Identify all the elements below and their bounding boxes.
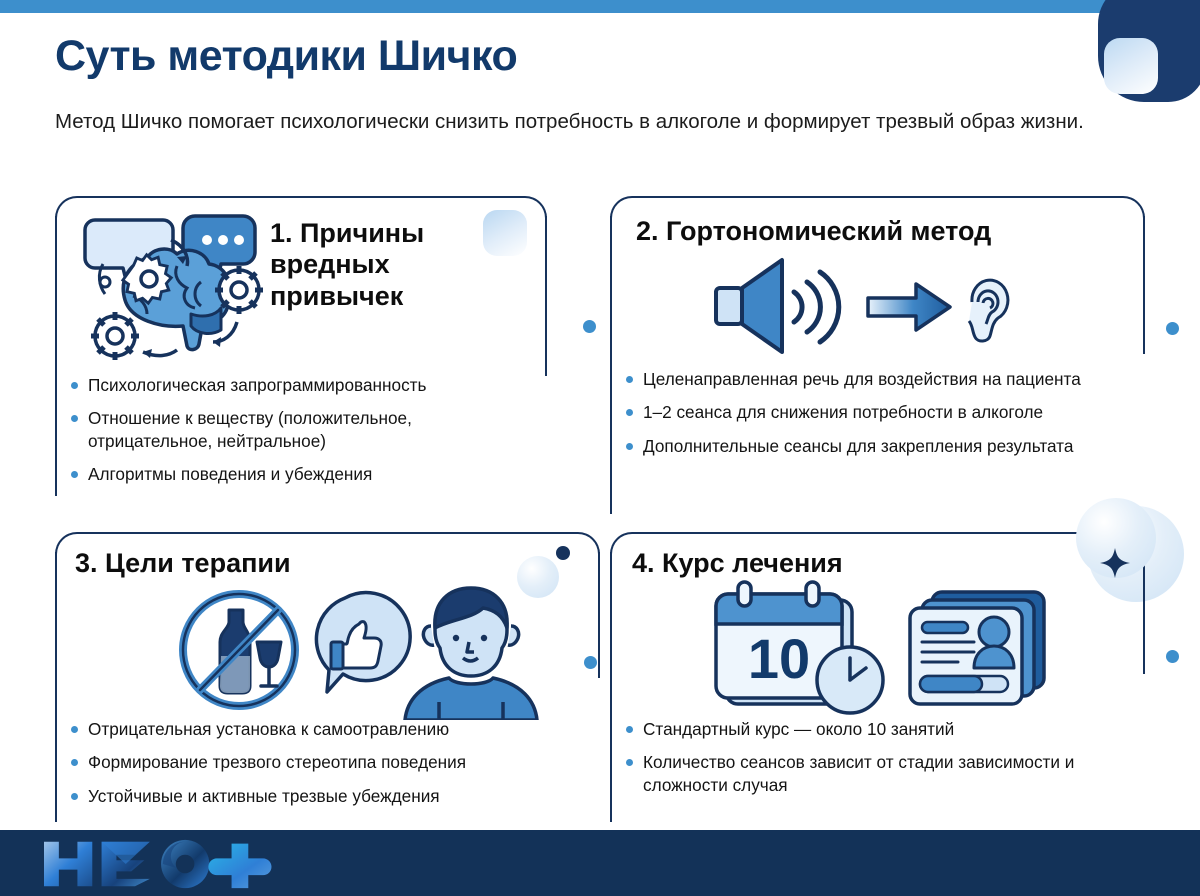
footer-bar [0, 830, 1200, 896]
card-3-bullet-list: Отрицательная установка к самоотравлению… [69, 718, 589, 818]
list-item: Устойчивые и активные трезвые убеждения [69, 785, 589, 807]
gradient-square-decoration [1104, 38, 1158, 94]
no-alcohol-thumbsup-person-icon [173, 580, 553, 720]
list-item: Целенаправленная речь для воздействия на… [624, 368, 1124, 390]
sparkle-star-icon [1100, 548, 1130, 578]
list-item: Количество сеансов зависит от стадии зав… [624, 751, 1124, 796]
brain-gears-icon [73, 204, 273, 364]
card-1-frame-right [525, 216, 547, 376]
card-1-dot-decoration [583, 320, 596, 333]
card-2-gortonomic-method: 2. Гортономический метод [610, 196, 1145, 514]
speaker-arrow-ear-icon [710, 254, 1010, 364]
top-accent-bar [0, 0, 1200, 13]
list-item: Стандартный курс — около 10 занятий [624, 718, 1124, 740]
neo-plus-logo [36, 838, 286, 890]
list-item: Формирование трезвого стереотипа поведен… [69, 751, 589, 773]
list-item: Алгоритмы поведения и убеждения [69, 463, 529, 485]
list-item: Дополнительные сеансы для закрепления ре… [624, 435, 1124, 457]
list-item: Психологическая запрограммированность [69, 374, 529, 396]
card-3-dot-decoration [584, 656, 597, 669]
calendar-clock-cards-icon: 10 [698, 580, 1058, 720]
card-3-therapy-goals: 3. Цели терапии [55, 532, 600, 822]
list-item: Отрицательная установка к самоотравлению [69, 718, 589, 740]
card-4-treatment-course: 4. Курс лечения 10 [610, 532, 1145, 822]
card-1-title: 1. Причины вредных привычек [270, 218, 520, 312]
card-1-bullet-list: Психологическая запрограммированность От… [69, 374, 529, 496]
card-4-title: 4. Курс лечения [632, 548, 843, 579]
card-3-title: 3. Цели терапии [75, 548, 291, 579]
list-item: 1–2 сеанса для снижения потребности в ал… [624, 401, 1124, 423]
card-2-bullet-list: Целенаправленная речь для воздействия на… [624, 368, 1124, 468]
page-subtitle: Метод Шичко помогает психологически сниз… [55, 108, 1095, 136]
page-title: Суть методики Шичко [55, 32, 517, 81]
card-1-frame-bottom [55, 474, 57, 496]
card-2-frame-top [610, 196, 1145, 218]
card-2-frame-left [610, 216, 632, 514]
card-2-dot-decoration [1166, 322, 1179, 335]
card-4-dot-decoration [1166, 650, 1179, 663]
calendar-day-number: 10 [748, 627, 810, 690]
card-4-bullet-list: Стандартный курс — около 10 занятий Коли… [624, 718, 1124, 807]
card-3-navy-dot-decoration [556, 546, 570, 560]
card-1-causes: 1. Причины вредных привычек Психологичес… [55, 196, 547, 496]
card-2-title: 2. Гортономический метод [636, 216, 1136, 247]
list-item: Отношение к веществу (положительное, отр… [69, 407, 529, 452]
